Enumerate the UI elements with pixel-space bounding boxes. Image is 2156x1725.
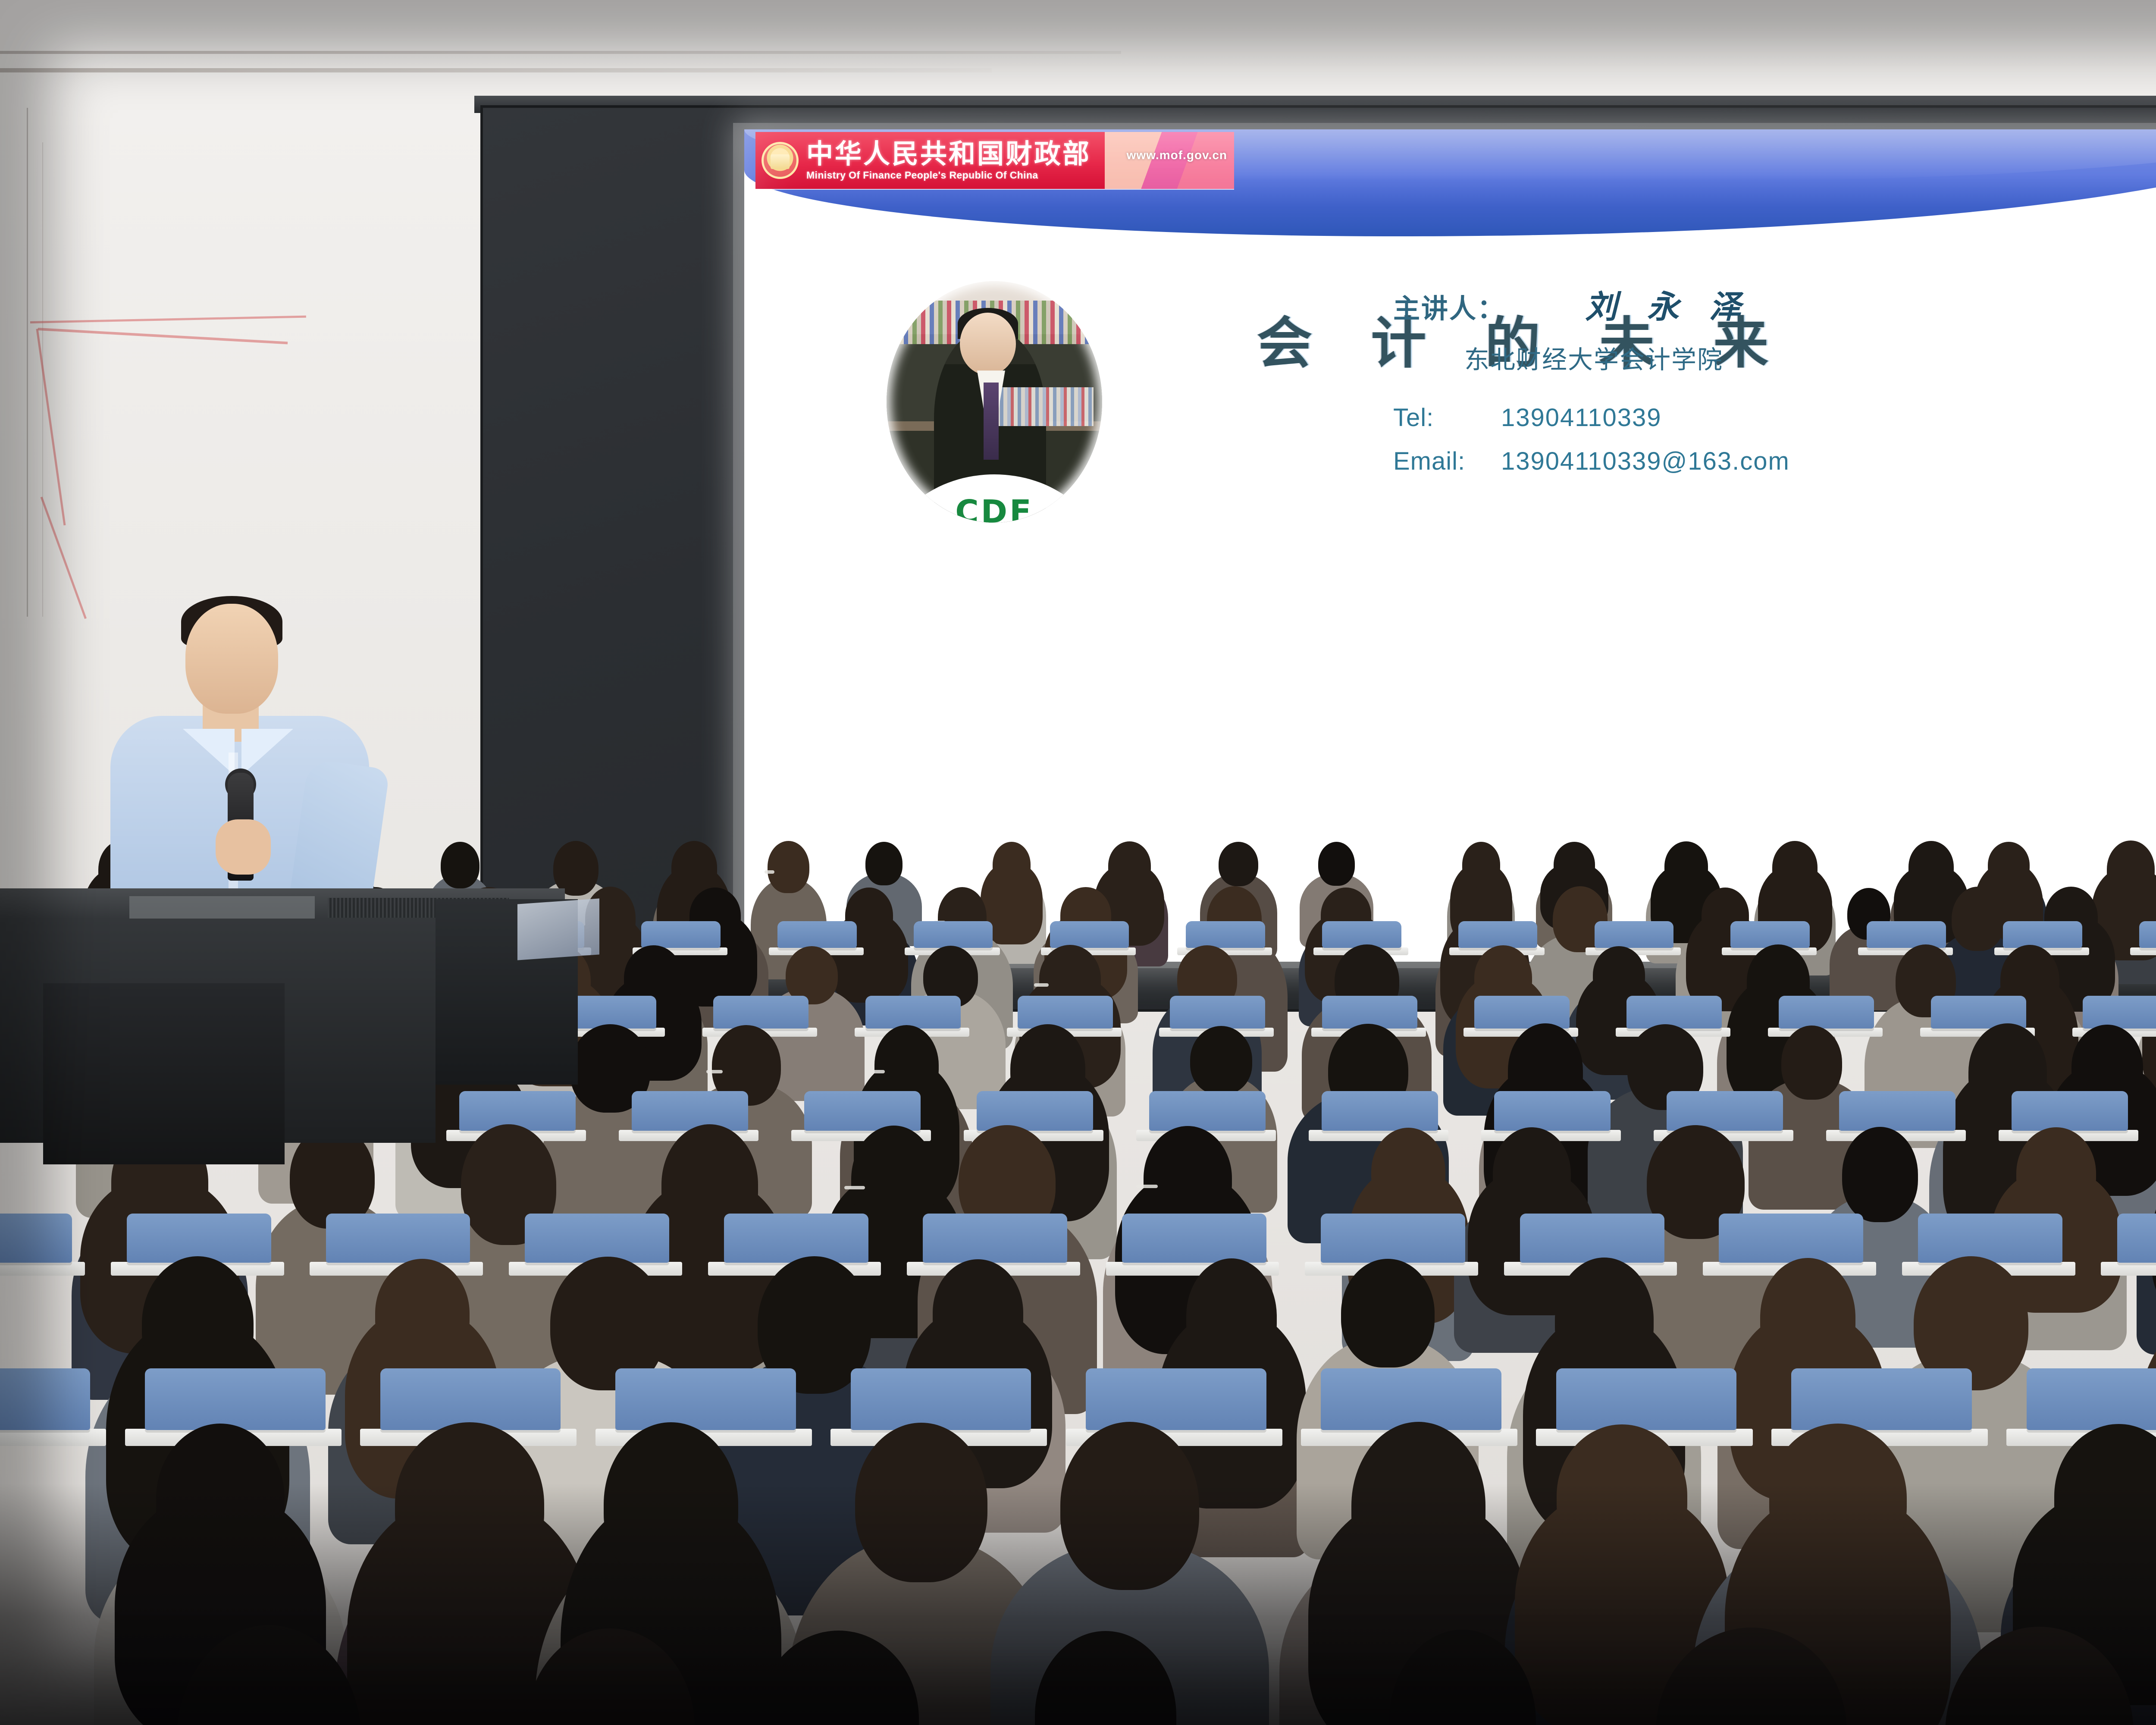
- audience-member-head: [1371, 1128, 1445, 1216]
- auditorium-seat: [1458, 921, 1538, 948]
- auditorium-seat: [804, 1091, 921, 1131]
- email-label: Email:: [1393, 447, 1501, 476]
- portrait-head: [960, 313, 1016, 376]
- speaker-affiliation: 东北财经大学会计学院: [1464, 339, 2156, 376]
- auditorium-seat: [1918, 1214, 2062, 1263]
- auditorium-seat: [724, 1214, 868, 1263]
- audience-member-head: [1908, 841, 1954, 893]
- auditorium-seat: [1122, 1214, 1266, 1263]
- lecture-desk: [0, 1429, 106, 1446]
- eyeglasses-icon: [844, 1186, 865, 1189]
- auditorium-seat: [1494, 1091, 1611, 1131]
- national-emblem-icon: [761, 142, 799, 179]
- presenter-head: [185, 604, 278, 714]
- contact-row-tel: Tel: 13904110339: [1393, 403, 2156, 432]
- portrait-caption-plate: CDF: [887, 474, 1102, 523]
- ministry-name-cn: 中华人民共和国财政部: [806, 141, 1091, 167]
- eyeglasses-icon: [1136, 1185, 1157, 1188]
- auditorium-seat: [2027, 1368, 2156, 1430]
- auditorium-seat: [1626, 996, 1722, 1028]
- tel-label: Tel:: [1393, 403, 1501, 432]
- auditorium-seat: [1149, 1091, 1266, 1131]
- speaker-row: 主讲人： 刘 永 泽: [1393, 281, 2156, 327]
- eyeglasses-icon: [1034, 983, 1049, 987]
- lectern-monitor: [517, 898, 599, 960]
- audience-member-head: [1186, 1258, 1277, 1374]
- email-value: 13904110339@163.com: [1501, 447, 1790, 476]
- audience-member-head: [1760, 1258, 1855, 1377]
- ministry-website-url: www.mof.gov.cn: [1127, 148, 1227, 162]
- auditorium-seat: [0, 1368, 90, 1430]
- eyeglasses-icon: [869, 1070, 885, 1073]
- auditorium-seat: [1170, 996, 1265, 1028]
- speaker-name: 刘 永 泽: [1585, 281, 1751, 327]
- lecture-desk: [0, 1262, 85, 1276]
- audience-member-head: [1108, 841, 1151, 890]
- bookshelf-row-lower: [986, 387, 1094, 426]
- eyeglasses-icon: [765, 870, 774, 874]
- audience-member-head: [1593, 946, 1645, 1004]
- contact-row-email: Email: 13904110339@163.com: [1393, 447, 2156, 476]
- auditorium-seat: [1322, 1091, 1438, 1131]
- ministry-name-en: Ministry Of Finance People's Republic Of…: [806, 170, 1091, 180]
- auditorium-seat: [326, 1214, 470, 1263]
- audience-member-head: [1842, 1127, 1918, 1222]
- audience-member-head: [375, 1259, 470, 1367]
- audience-member-head: [1952, 887, 2004, 951]
- auditorium-seat: [1556, 1368, 1737, 1430]
- lecture-hall-photo: 中华人民共和国财政部 Ministry Of Finance People's …: [0, 0, 2156, 1725]
- audience-member-head: [1318, 842, 1355, 886]
- auditorium-seat: [1186, 921, 1265, 948]
- audience-member-head: [933, 1259, 1023, 1366]
- auditorium-seat: [1595, 921, 1674, 948]
- audience-member-head: [671, 841, 718, 895]
- wall-seam: [27, 108, 28, 617]
- audience-member-head: [1781, 1026, 1842, 1100]
- auditorium-seat: [525, 1214, 669, 1263]
- audience-member-head: [768, 841, 809, 893]
- auditorium-seat: [2117, 1214, 2156, 1263]
- auditorium-seat: [2012, 1091, 2128, 1131]
- ministry-of-finance-banner: 中华人民共和国财政部 Ministry Of Finance People's …: [755, 132, 1234, 189]
- auditorium-seat: [1719, 1214, 1863, 1263]
- auditorium-seat: [1321, 1368, 1501, 1430]
- auditorium-seat: [1839, 1091, 1955, 1131]
- auditorium-seat: [145, 1368, 326, 1430]
- contact-block: Tel: 13904110339 Email: 13904110339@163.…: [1393, 403, 2156, 476]
- auditorium-seat: [1018, 996, 1113, 1028]
- portrait-necktie: [984, 383, 999, 460]
- auditorium-seat: [1730, 921, 1810, 948]
- auditorium-seat: [641, 921, 721, 948]
- auditorium-seat: [1321, 1214, 1465, 1263]
- auditorium-seat: [1086, 1368, 1266, 1430]
- audience-member-head: [1988, 842, 2030, 888]
- auditorium-seat: [2003, 921, 2082, 948]
- ceiling-edge-secondary: [0, 68, 992, 72]
- audience-member-head: [2016, 1127, 2096, 1219]
- eyeglasses-icon: [706, 1070, 723, 1073]
- auditorium-seat: [923, 1214, 1067, 1263]
- lectern-base: [43, 983, 285, 1164]
- ceiling-edge: [0, 51, 1121, 54]
- lectern-control-panel: [129, 896, 315, 919]
- auditorium-seat: [1791, 1368, 1972, 1430]
- presenter-hand: [216, 819, 271, 875]
- audience-member-head: [1772, 841, 1818, 894]
- auditorium-seat: [865, 996, 961, 1028]
- foreground-shadow: [0, 1483, 2156, 1725]
- audience-member-head: [1219, 842, 1258, 886]
- auditorium-seat: [1520, 1214, 1664, 1263]
- tel-value: 13904110339: [1501, 403, 1662, 432]
- auditorium-seat: [1867, 921, 1946, 948]
- audience-member-head: [993, 842, 1031, 887]
- auditorium-seat: [127, 1214, 271, 1263]
- auditorium-seat: [914, 921, 993, 948]
- ministry-banner-text: 中华人民共和国财政部 Ministry Of Finance People's …: [806, 141, 1091, 180]
- auditorium-seat: [1050, 921, 1129, 948]
- auditorium-seat: [380, 1368, 561, 1430]
- auditorium-seat: [1779, 996, 1874, 1028]
- audience-member-head: [1190, 1026, 1253, 1095]
- audience-member-head: [1493, 1127, 1571, 1220]
- auditorium-seat: [0, 1214, 72, 1263]
- audience-member-head: [865, 842, 903, 885]
- auditorium-seat: [713, 996, 808, 1028]
- audience-member-head: [1664, 841, 1708, 891]
- auditorium-seat: [851, 1368, 1031, 1430]
- auditorium-seat: [2083, 996, 2156, 1028]
- audience-member-head: [1555, 1258, 1654, 1382]
- audience-member-head: [1462, 842, 1500, 888]
- cdf-caption-text: CDF: [887, 493, 1102, 523]
- auditorium-seat: [777, 921, 857, 948]
- audience-member-head: [441, 842, 479, 888]
- speaker-portrait-oval: CDF: [887, 281, 1102, 523]
- audience-member-head: [1341, 1259, 1435, 1367]
- auditorium-seat: [615, 1368, 796, 1430]
- speaker-label: 主讲人：: [1393, 287, 1505, 326]
- audience-member-head: [1554, 842, 1595, 888]
- auditorium-seat: [1322, 921, 1401, 948]
- slide-info-block: 主讲人： 刘 永 泽 东北财经大学会计学院 Tel: 13904110339 E…: [1393, 281, 2156, 490]
